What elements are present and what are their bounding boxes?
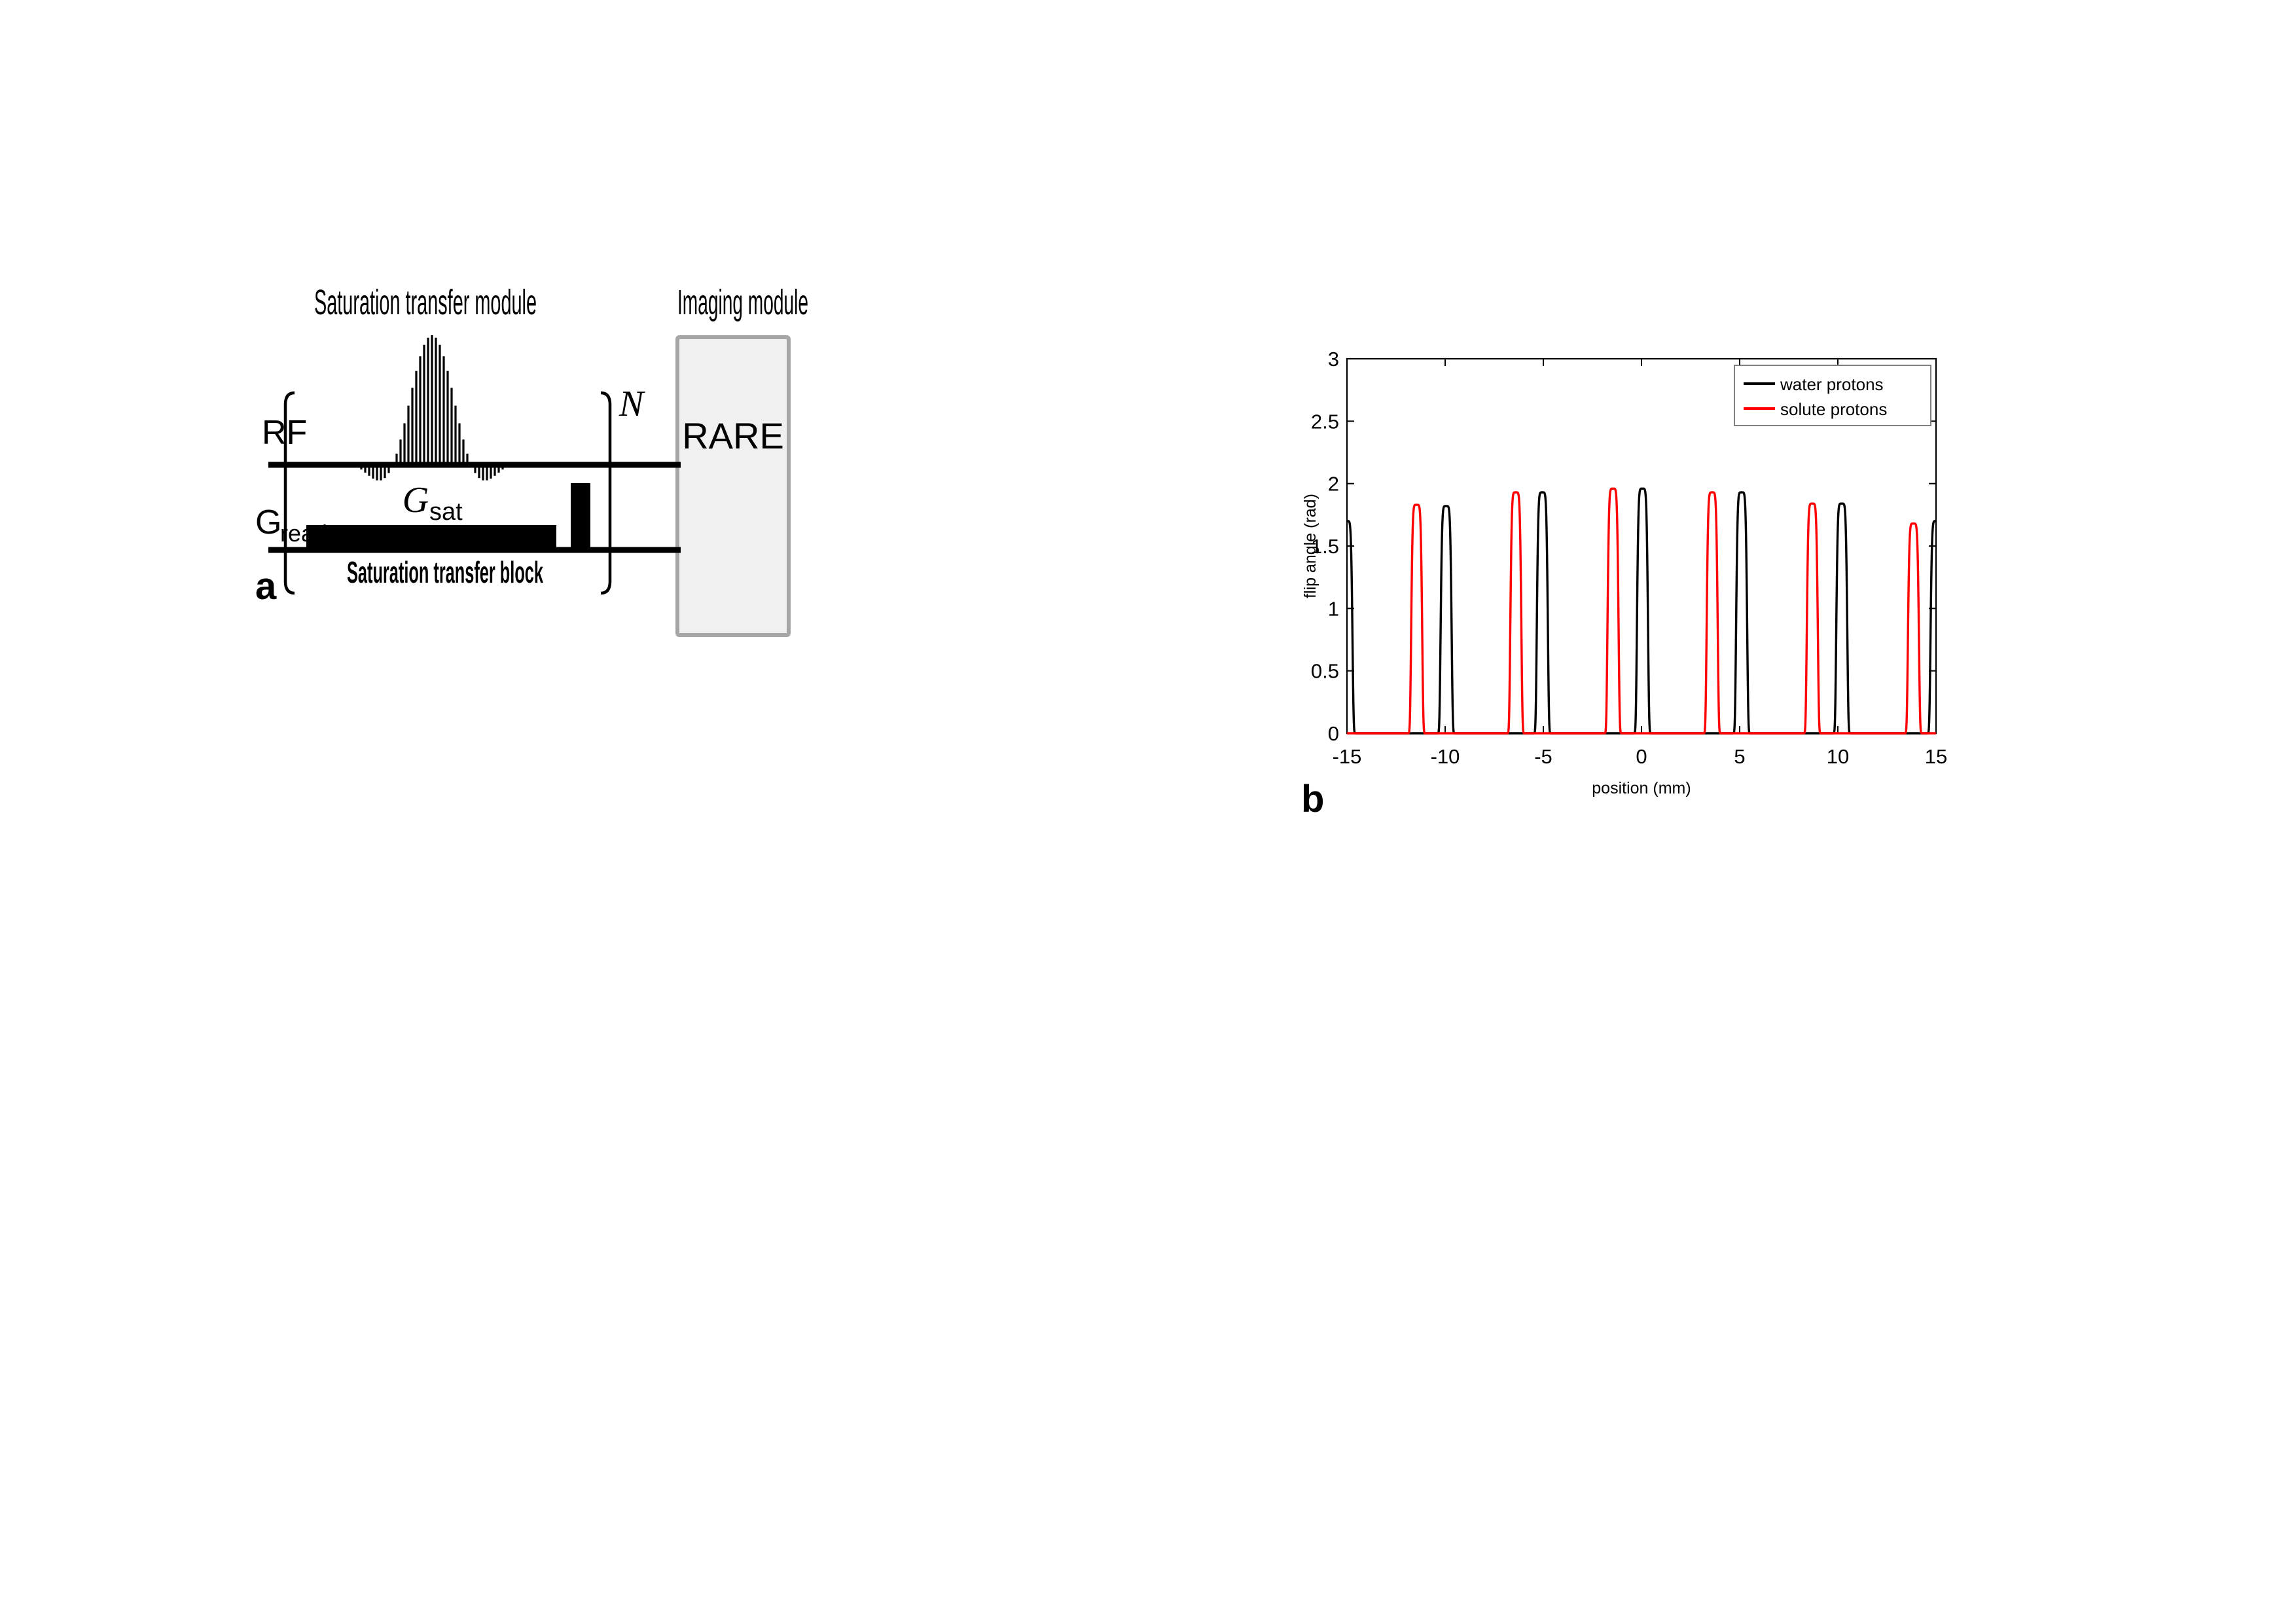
panel-a-letter: a <box>255 565 277 608</box>
svg-text:G: G <box>255 503 281 541</box>
repeat-count-label: N <box>619 384 645 424</box>
legend-label-solute-protons: solute protons <box>1780 399 1887 419</box>
pulse-sequence-svg: Saturation transfer module Imaging modul… <box>249 275 1270 851</box>
x-tick-label: -10 <box>1431 745 1460 768</box>
figure-root: Saturation transfer module Imaging modul… <box>0 0 2296 1623</box>
rare-box-label: RARE <box>682 415 784 456</box>
plot-root: -15-10-505101500.511.522.53position (mm)… <box>1301 348 1947 797</box>
legend-label-water-protons: water protons <box>1780 374 1884 394</box>
repeat-bracket-right <box>601 393 610 593</box>
y-tick-label: 2 <box>1328 473 1339 496</box>
x-tick-label: 15 <box>1925 745 1947 768</box>
y-tick-label: 2.5 <box>1311 410 1339 433</box>
saturation-module-title: Saturation transfer module <box>314 283 537 322</box>
y-tick-label: 1 <box>1328 597 1339 620</box>
y-tick-label: 0 <box>1328 722 1339 745</box>
x-tick-label: -5 <box>1534 745 1552 768</box>
series-line-water-protons <box>1347 488 1936 733</box>
panel-a-pulse-sequence: Saturation transfer module Imaging modul… <box>249 275 1270 851</box>
y-axis-label: flip angle (rad) <box>1301 494 1319 598</box>
panel-b-letter: b <box>1301 778 1324 820</box>
crusher-gradient-block <box>571 483 590 550</box>
svg-text:G: G <box>403 480 429 520</box>
x-axis-label: position (mm) <box>1592 779 1691 797</box>
svg-text:sat: sat <box>429 498 463 526</box>
panel-b-flip-angle-plot: -15-10-505101500.511.522.53position (mm)… <box>1296 340 1957 838</box>
saturation-transfer-block-label: Saturation transfer block <box>347 555 543 589</box>
x-tick-label: 10 <box>1827 745 1849 768</box>
gsat-gradient-label: G sat <box>403 480 463 526</box>
x-tick-label: -15 <box>1333 745 1362 768</box>
rf-sinc-pulse-train <box>334 335 530 481</box>
flip-angle-plot-svg: -15-10-505101500.511.522.53position (mm)… <box>1296 340 1957 838</box>
y-tick-label: 0.5 <box>1311 660 1339 683</box>
gsat-gradient-block <box>306 525 556 550</box>
rare-imaging-box <box>677 337 789 635</box>
imaging-module-title: Imaging module <box>677 283 808 322</box>
x-tick-label: 5 <box>1734 745 1745 768</box>
y-tick-label: 3 <box>1328 348 1339 371</box>
x-tick-label: 0 <box>1636 745 1647 768</box>
